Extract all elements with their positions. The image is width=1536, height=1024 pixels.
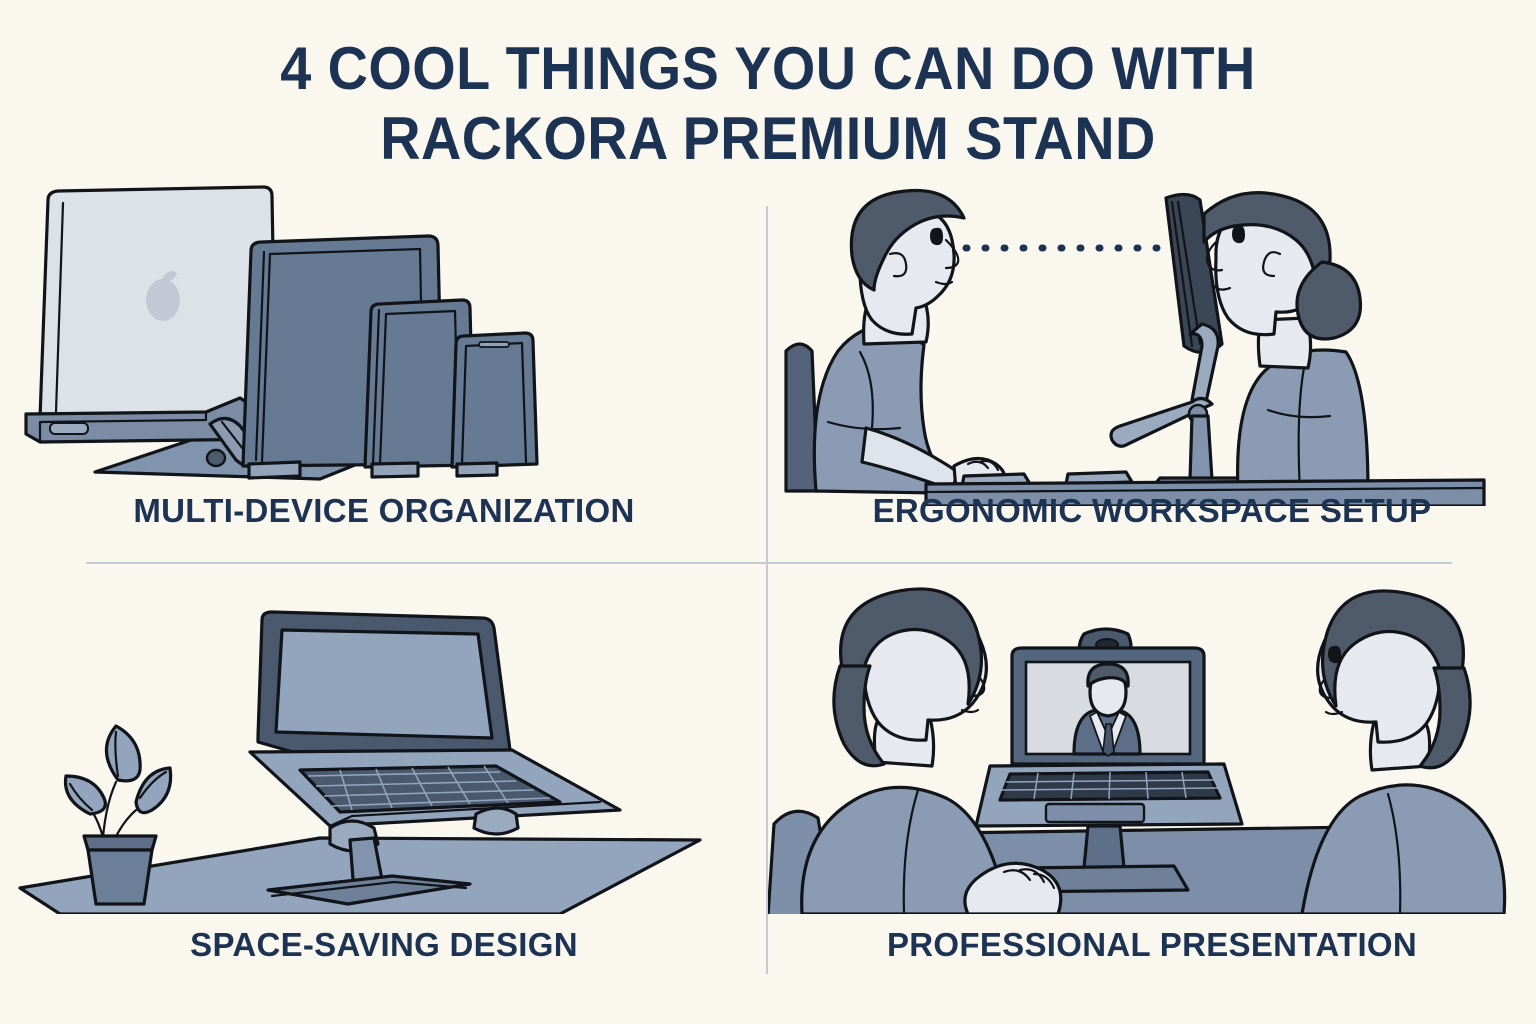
title-line-2: RACKORA PREMIUM STAND [54,104,1482,174]
stand-device-slots [249,462,497,478]
caption-professional-presentation: PROFESSIONAL PRESENTATION [768,926,1536,964]
person-left-woman [802,589,1008,914]
eye [1328,646,1341,663]
caption-ergonomic-workspace-setup: ERGONOMIC WORKSPACE SETUP [768,492,1536,530]
smartphone-device [452,333,537,467]
person-right-woman [1302,591,1505,914]
illustration-space-saving-design [0,584,768,914]
eye [930,228,943,245]
illustration-ergonomic-workspace-setup [768,176,1536,506]
phone-speaker [479,342,509,347]
trackpad [1046,804,1144,822]
illustration-multi-device-organization [0,176,768,506]
infographic-canvas: 4 COOL THINGS YOU CAN DO WITH RACKORA PR… [0,0,1536,1024]
title-line-1: 4 COOL THINGS YOU CAN DO WITH [54,34,1482,104]
quadrant-multi-device-organization: MULTI-DEVICE ORGANIZATION [0,176,768,576]
cradle-slot [50,423,88,434]
quadrant-space-saving-design: SPACE-SAVING DESIGN [0,584,768,984]
caption-space-saving-design: SPACE-SAVING DESIGN [0,926,768,964]
illustration-professional-presentation [768,584,1536,914]
person-standing-woman [1204,193,1368,492]
laptop-device [40,187,276,419]
person-seated-man [814,190,1005,493]
quadrant-professional-presentation: PROFESSIONAL PRESENTATION [768,584,1536,984]
caption-multi-device-organization: MULTI-DEVICE ORGANIZATION [0,492,768,530]
eye [1232,226,1245,243]
page-title: 4 COOL THINGS YOU CAN DO WITH RACKORA PR… [0,34,1536,174]
laptop-logo [146,279,180,321]
quadrant-ergonomic-workspace-setup: ERGONOMIC WORKSPACE SETUP [768,176,1536,576]
